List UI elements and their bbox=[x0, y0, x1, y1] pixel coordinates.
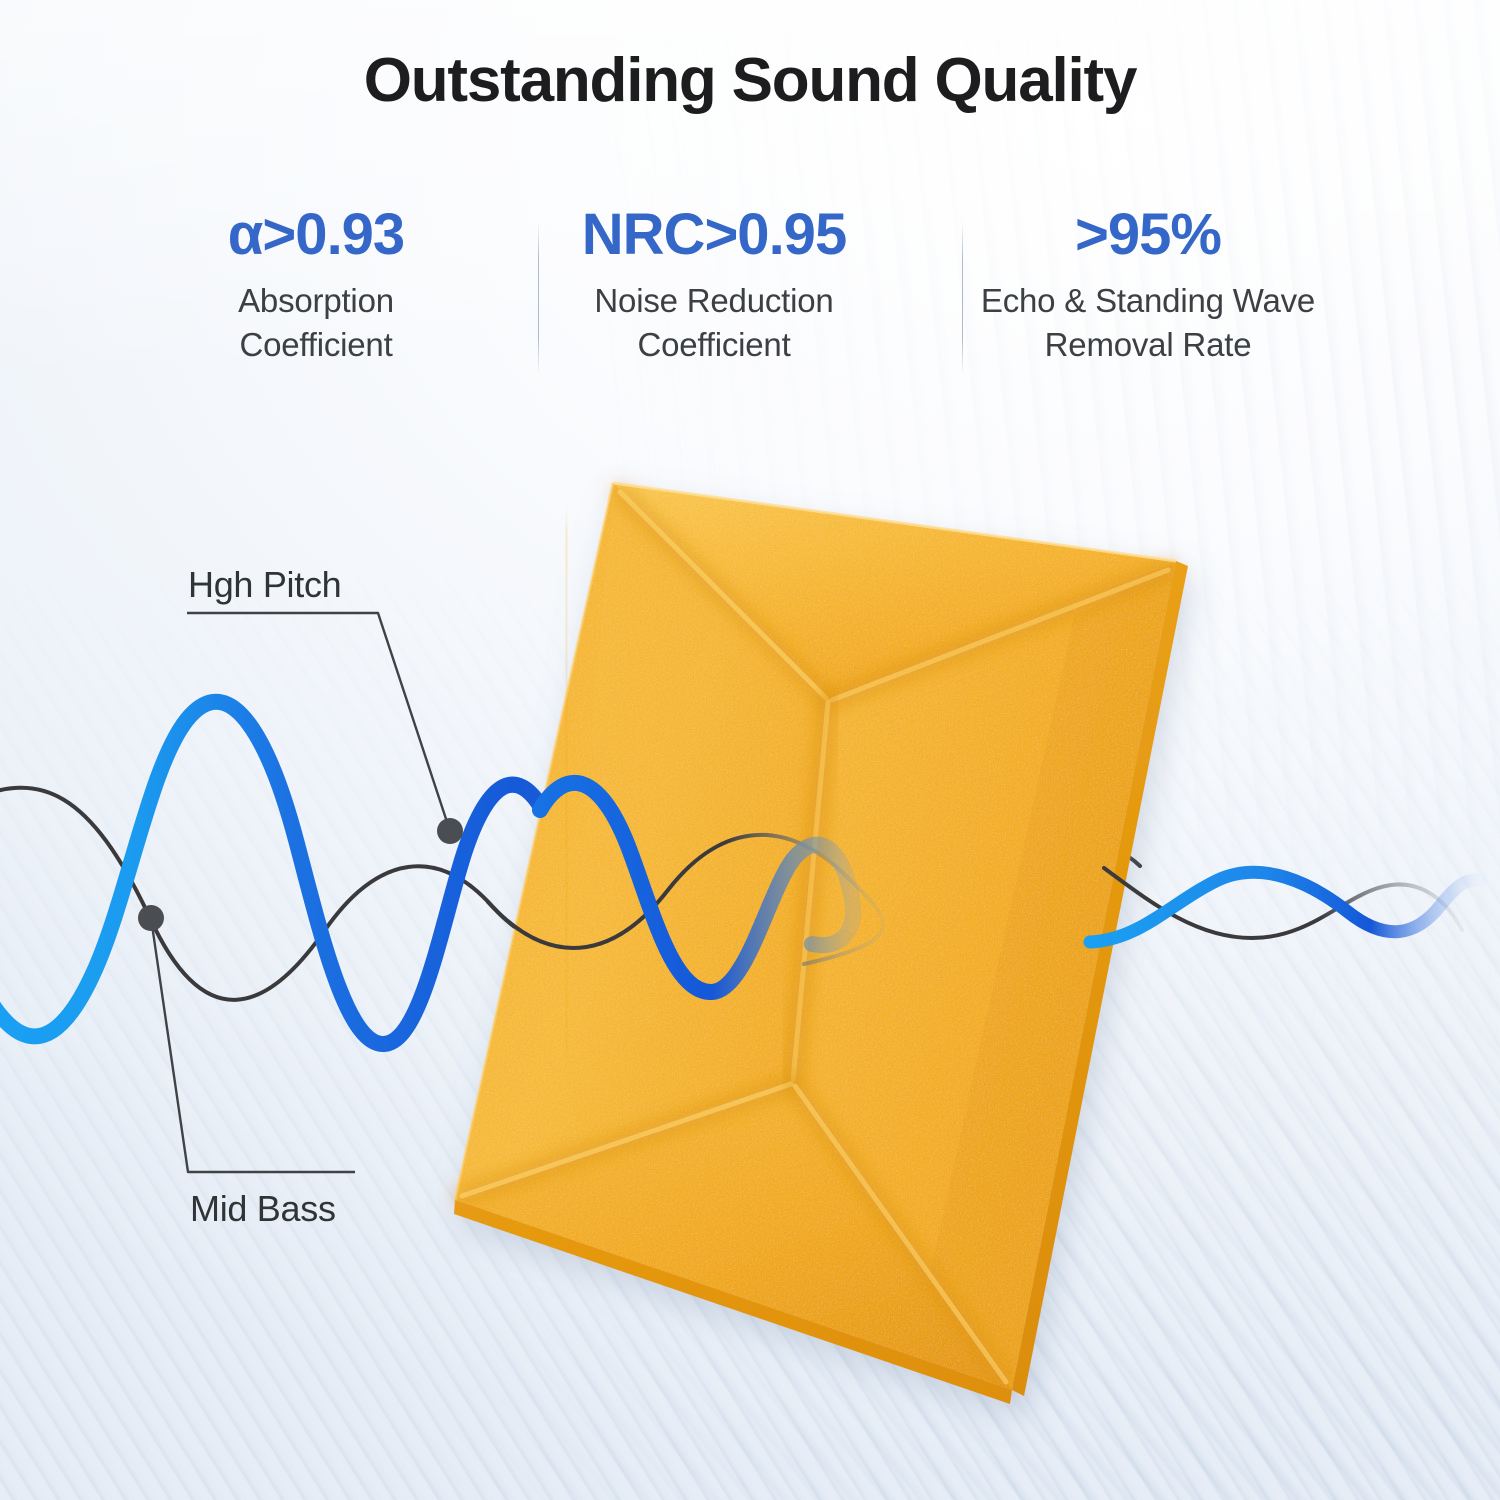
infographic-canvas: Outstanding Sound Quality α>0.93 Absorpt… bbox=[0, 0, 1500, 1500]
callout-mid-bass-dot bbox=[138, 905, 164, 931]
sound-wave-group-outgoing bbox=[1090, 868, 1480, 942]
acoustic-illustration: Hgh Pitch Mid Bass bbox=[0, 0, 1500, 1500]
callout-mid-bass-label: Mid Bass bbox=[190, 1188, 336, 1229]
callout-high-pitch-dot bbox=[437, 818, 463, 844]
callout-high-pitch-label: Hgh Pitch bbox=[188, 564, 341, 605]
callout-high-pitch-leader-line bbox=[187, 613, 450, 831]
wave-high-frequency-blue bbox=[0, 702, 544, 1044]
